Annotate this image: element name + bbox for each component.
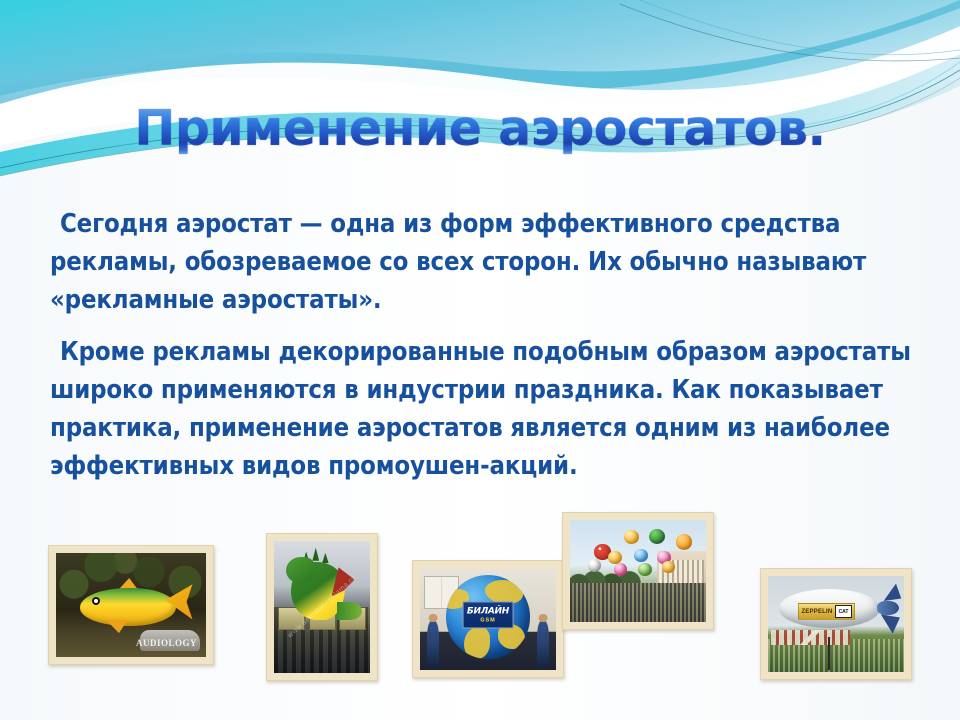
- page-title: Применение аэростатов.: [134, 104, 825, 154]
- paragraph-2: Кроме рекламы декорированные подобным об…: [22, 333, 938, 485]
- festival-balloon: [588, 559, 602, 572]
- body-text-block: Сегодня аэростат — одна из форм эффектив…: [22, 205, 938, 496]
- zeppelin-photo-tents: [771, 630, 850, 645]
- festival-balloon: [662, 561, 674, 573]
- festival-balloon: [649, 529, 665, 544]
- globe-photo-person-right: [537, 621, 549, 668]
- title-block: Применение аэростатов.: [0, 104, 960, 154]
- festival-balloon: [676, 534, 692, 549]
- zeppelin-nose-cone: [877, 601, 899, 615]
- festival-balloon: [608, 551, 622, 564]
- globe-photo-person-left: [427, 621, 439, 668]
- photo-festival-balloons-crowd: [562, 512, 714, 630]
- festival-balloon: [614, 563, 628, 576]
- globe-balloon-body: БИЛАЙН GSM: [446, 575, 530, 659]
- globe-landmass: [485, 580, 524, 603]
- festival-photo-crowd: [570, 583, 706, 622]
- paragraph-1: Сегодня аэростат — одна из форм эффектив…: [22, 205, 938, 319]
- dragon-head: [286, 557, 315, 583]
- fish-balloon-body: [80, 588, 176, 625]
- dragon-spike: [312, 548, 319, 561]
- festival-balloon: [634, 549, 648, 562]
- zeppelin-lower-fin: [881, 614, 900, 633]
- festival-balloon: [638, 563, 652, 576]
- globe-brand-name: БИЛАЙН: [467, 607, 509, 617]
- photo-inflatable-dragon-balloon: www.aerostat-reklama.ru: [266, 533, 378, 681]
- fish-photo-caption: AUDIOLOGY: [136, 638, 197, 648]
- festival-balloon: [624, 530, 639, 544]
- cat-logo-badge: CAT: [835, 605, 852, 619]
- fish-eye: [92, 597, 100, 605]
- globe-landmass: [464, 627, 489, 659]
- photo-inflatable-fish-balloon: AUDIOLOGY: [48, 545, 214, 665]
- presentation-slide: Применение аэростатов. Сегодня аэростат …: [0, 0, 960, 720]
- zeppelin-brand-banner: ZEPPELIN CAT: [798, 603, 855, 620]
- photo-zeppelin-airship-balloon: ZEPPELIN CAT: [760, 568, 912, 680]
- zeppelin-upper-fin: [884, 584, 902, 601]
- globe-brand-label: БИЛАЙН GSM: [463, 602, 514, 629]
- photo-beeline-globe-balloon: БИЛАЙН GSM: [412, 560, 564, 678]
- globe-brand-subtitle: GSM: [480, 618, 496, 624]
- zeppelin-brand-name: ZEPPELIN: [801, 609, 833, 615]
- zeppelin-photo-pole: [828, 637, 830, 670]
